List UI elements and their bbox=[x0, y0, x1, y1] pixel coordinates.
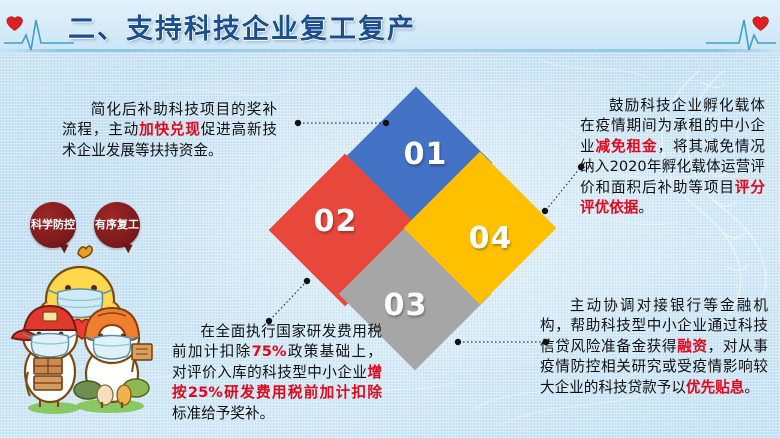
header-rule bbox=[0, 49, 780, 52]
blade-03-number: 03 bbox=[384, 288, 428, 323]
highlighted-phrase: 75% bbox=[252, 343, 287, 360]
speech-bubble-right-text: 有序复工 bbox=[95, 219, 139, 231]
highlighted-phrase: 融资 bbox=[677, 338, 707, 355]
highlighted-phrase: 优先贴息 bbox=[686, 379, 744, 396]
text-block-top-right: 鼓励科技企业孵化载体在疫情期间为承租的中小企业减免租金，将其减免情况纳入2020… bbox=[580, 96, 765, 219]
mascot-group: 科学防控 有序复工 bbox=[6, 198, 156, 430]
mascot-illustration bbox=[6, 232, 156, 422]
delivery-worker-mascot bbox=[12, 306, 77, 407]
highlighted-phrase: 加快兑现 bbox=[139, 121, 201, 138]
page-title: 二、支持科技企业复工复产 bbox=[68, 7, 416, 46]
blade-02-number: 02 bbox=[314, 204, 358, 239]
body-text: 。 bbox=[638, 199, 653, 216]
blade-04-number: 04 bbox=[469, 221, 513, 256]
slide-header: 二、支持科技企业复工复产 bbox=[0, 0, 780, 56]
body-text: 。 bbox=[744, 379, 759, 396]
body-text: 标准给予奖补。 bbox=[172, 405, 274, 422]
pinwheel-diagram: 01 02 03 04 bbox=[295, 112, 525, 342]
slide-canvas: 二、支持科技企业复工复产 01 02 03 04 简化后补助科技项目的奖补流程，… bbox=[0, 0, 780, 438]
text-block-bottom-left: 在全面执行国家研发费用税前加计扣除75%政策基础上，对评价入库的科技型中小企业增… bbox=[172, 322, 382, 424]
blade-01-number: 01 bbox=[404, 137, 448, 172]
text-block-bottom-right: 主动协调对接银行等金融机构，帮助科技型中小企业通过科技信贷风险准备金获得融资，对… bbox=[540, 296, 768, 398]
highlighted-phrase: 减免租金 bbox=[596, 138, 658, 155]
speech-bubble-left-text: 科学防控 bbox=[31, 219, 75, 231]
text-block-top-left: 简化后补助科技项目的奖补流程，主动加快兑现促进高新技术企业发展等扶持资金。 bbox=[62, 100, 277, 161]
